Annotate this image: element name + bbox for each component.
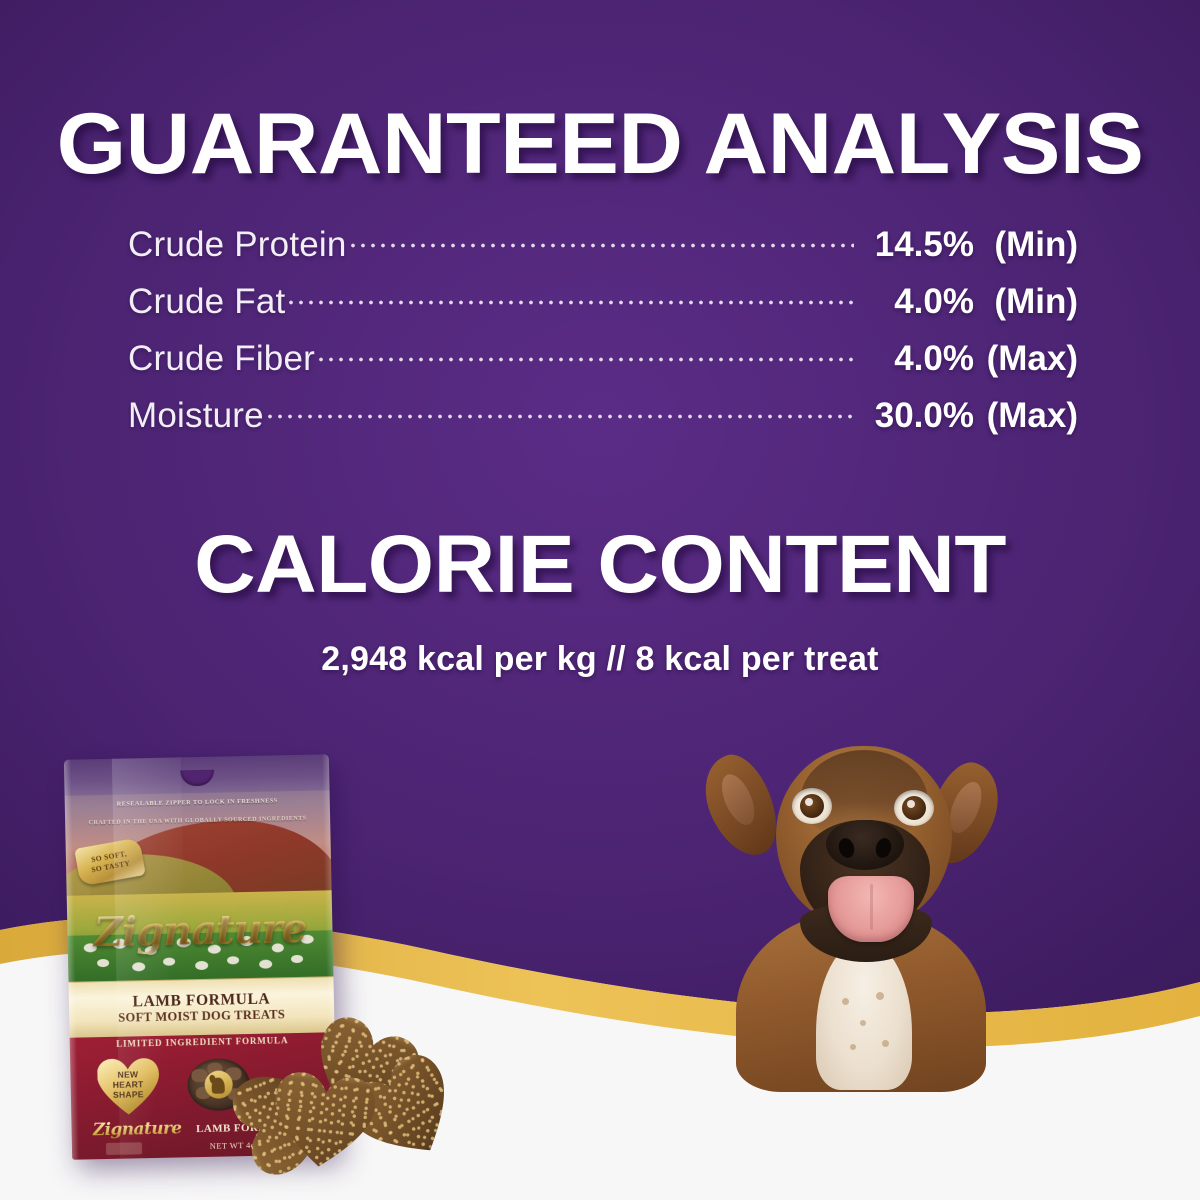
dog-iris [800, 794, 824, 818]
dog-photo-boxer [688, 728, 1040, 1080]
analysis-value-number: 14.5% [856, 225, 974, 265]
analysis-label: Crude Protein [128, 225, 347, 265]
calorie-content-value: 2,948 kcal per kg // 8 kcal per treat [0, 640, 1200, 679]
dog-nostril-left [837, 836, 857, 859]
analysis-value: 30.0%(Max) [856, 396, 1078, 436]
section-title-calorie-content: CALORIE CONTENT [0, 519, 1200, 611]
bag-brand-logo: Zignature [67, 906, 333, 956]
analysis-value-number: 4.0% [856, 282, 974, 322]
dog-tongue [828, 876, 914, 942]
dog-silhouette-icon [212, 1078, 225, 1094]
analysis-label: Moisture [128, 396, 264, 436]
heart-badge-line-3: SHAPE [113, 1089, 144, 1100]
infographic-canvas: GUARANTEED ANALYSIS Crude Protein 14.5%(… [0, 0, 1200, 1200]
leader-dots [286, 279, 854, 313]
analysis-value: 4.0%(Min) [856, 282, 1078, 322]
analysis-row: Crude Protein 14.5%(Min) [128, 222, 1078, 279]
page-title-guaranteed-analysis: GUARANTEED ANALYSIS [0, 96, 1200, 192]
guaranteed-analysis-list: Crude Protein 14.5%(Min) Crude Fat 4.0%(… [128, 222, 1078, 450]
analysis-value-qualifier: (Max) [974, 396, 1078, 436]
analysis-value-number: 4.0% [856, 339, 974, 379]
heart-badge-line-2: HEART [113, 1079, 144, 1090]
dog-eye-right [894, 790, 934, 826]
analysis-label: Crude Fat [128, 282, 285, 322]
heart-badge-line-1: NEW [117, 1069, 138, 1079]
dog-ear-inner [715, 770, 761, 830]
dog-iris [902, 796, 926, 820]
bag-new-heart-shape-badge: NEW HEART SHAPE [97, 1058, 160, 1115]
analysis-value-qualifier: (Min) [974, 282, 1078, 322]
analysis-row: Crude Fat 4.0%(Min) [128, 279, 1078, 336]
dog-nostril-right [874, 836, 894, 859]
analysis-row: Moisture 30.0%(Max) [128, 393, 1078, 450]
analysis-value: 14.5%(Min) [856, 225, 1078, 265]
leader-dots [348, 222, 854, 256]
analysis-value-qualifier: (Min) [974, 225, 1078, 265]
analysis-value-qualifier: (Max) [974, 339, 1078, 379]
bag-footer-seal [106, 1142, 142, 1155]
dog-nose [826, 820, 904, 870]
bag-footer-brand: Zignature [93, 1120, 182, 1141]
dog-ear-left [692, 746, 791, 866]
analysis-value-number: 30.0% [856, 396, 974, 436]
leader-dots [265, 393, 854, 427]
analysis-row: Crude Fiber 4.0%(Max) [128, 336, 1078, 393]
analysis-value: 4.0%(Max) [856, 339, 1078, 379]
dog-eye-left [792, 788, 832, 824]
analysis-label: Crude Fiber [128, 339, 315, 379]
treat-pile [228, 1020, 468, 1200]
leader-dots [316, 336, 854, 370]
